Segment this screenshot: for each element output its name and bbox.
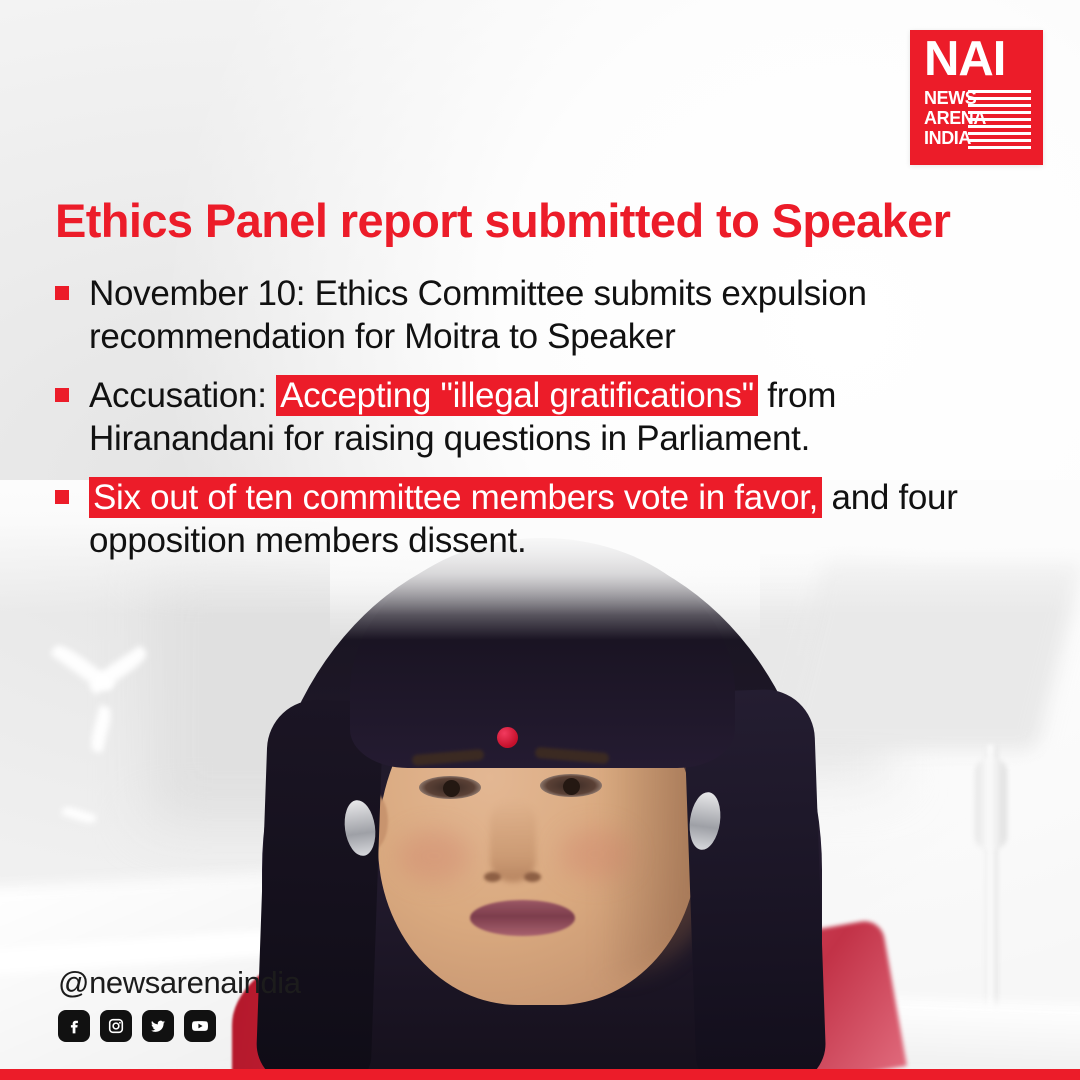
- cheek-highlight-right: [560, 828, 632, 880]
- pupil-left: [443, 780, 460, 797]
- bullet-text-pre: November 10: Ethics Committee submits ex…: [89, 274, 867, 356]
- nose: [490, 800, 536, 882]
- bullet-highlight: Six out of ten committee members vote in…: [89, 477, 822, 518]
- twitter-icon[interactable]: [142, 1010, 174, 1042]
- bullet-square-icon: [55, 286, 69, 300]
- nostril-left: [484, 872, 501, 882]
- footer: @newsarenaindia: [58, 965, 301, 1042]
- social-handle: @newsarenaindia: [58, 965, 301, 1001]
- pupil-right: [563, 778, 580, 795]
- headline: Ethics Panel report submitted to Speaker: [55, 196, 1025, 246]
- cheek-highlight-left: [398, 830, 470, 882]
- bullet-square-icon: [55, 388, 69, 402]
- bullet-text: Six out of ten committee members vote in…: [89, 476, 1030, 562]
- facebook-icon[interactable]: [58, 1010, 90, 1042]
- nostril-right: [524, 872, 541, 882]
- instagram-icon[interactable]: [100, 1010, 132, 1042]
- logo-wordmark: NAI: [924, 35, 1005, 84]
- bullet-text: Accusation: Accepting "illegal gratifica…: [89, 374, 1030, 460]
- logo-subtext-line3: INDIA: [924, 128, 994, 148]
- bullet-text-pre: Accusation:: [89, 376, 276, 415]
- lips: [470, 900, 575, 936]
- bullet-highlight: Accepting "illegal gratifications": [276, 375, 758, 416]
- logo-subtext-line1: NEWS: [924, 88, 994, 108]
- logo-subtext-line2: ARENA: [924, 108, 994, 128]
- list-item: Accusation: Accepting "illegal gratifica…: [55, 374, 1030, 460]
- bullet-text: November 10: Ethics Committee submits ex…: [89, 272, 1030, 358]
- nai-logo: NAI NEWS ARENA INDIA: [910, 30, 1043, 165]
- news-graphic-card: NAI NEWS ARENA INDIA Ethics Panel report…: [0, 0, 1080, 1080]
- list-item: November 10: Ethics Committee submits ex…: [55, 272, 1030, 358]
- bindi: [497, 727, 518, 748]
- social-icons: [58, 1010, 301, 1042]
- bullet-list: November 10: Ethics Committee submits ex…: [55, 272, 1030, 578]
- logo-subtext: NEWS ARENA INDIA: [924, 88, 994, 148]
- list-item: Six out of ten committee members vote in…: [55, 476, 1030, 562]
- bullet-square-icon: [55, 490, 69, 504]
- bottom-accent-bar: [0, 1069, 1080, 1080]
- youtube-icon[interactable]: [184, 1010, 216, 1042]
